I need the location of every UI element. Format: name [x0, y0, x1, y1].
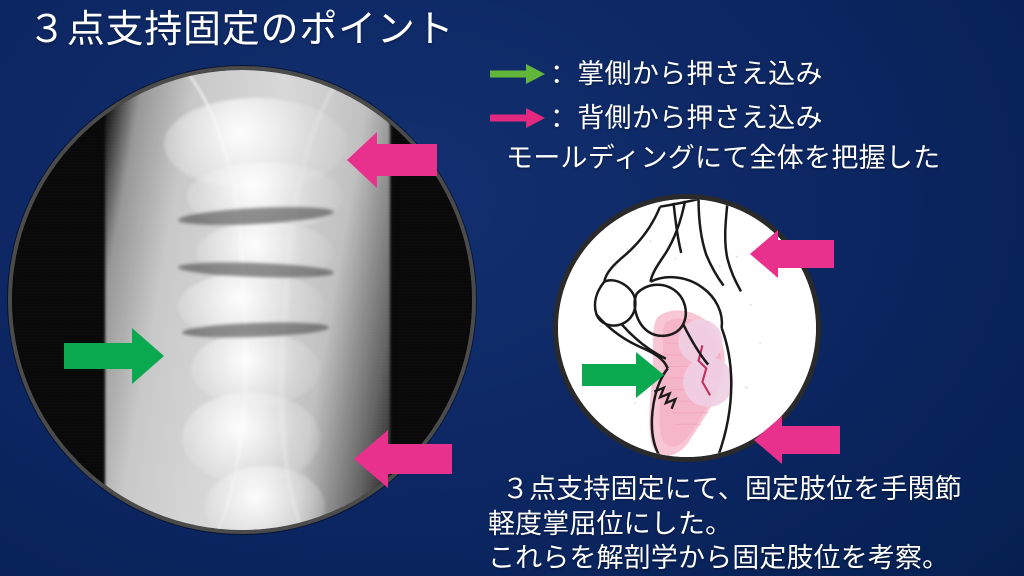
legend-note: モールディングにて全体を把握した [506, 142, 1024, 174]
slide-canvas: ３点支持固定のポイント [0, 0, 1024, 576]
page-title: ３点支持固定のポイント [28, 9, 454, 53]
legend-item-palmar: ： 掌側から押さえ込み [488, 52, 1024, 96]
xray-palmar-pressure-arrow [62, 325, 166, 387]
caption-line-2: 軽度掌屈位にした。 [488, 507, 1024, 542]
illustration-dorsal-pressure-arrow-top [748, 228, 834, 280]
xray-dorsal-pressure-arrow-bottom [352, 428, 452, 490]
caption-line-3: これらを解剖学から固定肢位を考察。 [488, 541, 1024, 576]
legend: ： 掌側から押さえ込み ： 背側から押さえ込み モールディングにて全体を把握した [488, 52, 1024, 174]
legend-separator-palmar: ： [550, 61, 577, 88]
legend-item-dorsal: ： 背側から押さえ込み [488, 96, 1024, 140]
legend-label-palmar: 掌側から押さえ込み [577, 61, 822, 88]
pink-arrow-right-icon [488, 105, 546, 131]
caption-block: ３点支持固定にて、固定肢位を手関節 軽度掌屈位にした。 これらを解剖学から固定肢… [488, 472, 1024, 576]
caption-line-1: ３点支持固定にて、固定肢位を手関節 [488, 472, 1024, 507]
legend-label-dorsal: 背側から押さえ込み [577, 105, 822, 132]
xray-dorsal-pressure-arrow-top [345, 130, 437, 190]
illustration-dorsal-pressure-arrow-bottom [752, 414, 840, 466]
legend-separator-dorsal: ： [550, 105, 577, 132]
illustration-palmar-pressure-arrow [580, 350, 666, 400]
green-arrow-right-icon [488, 61, 546, 87]
